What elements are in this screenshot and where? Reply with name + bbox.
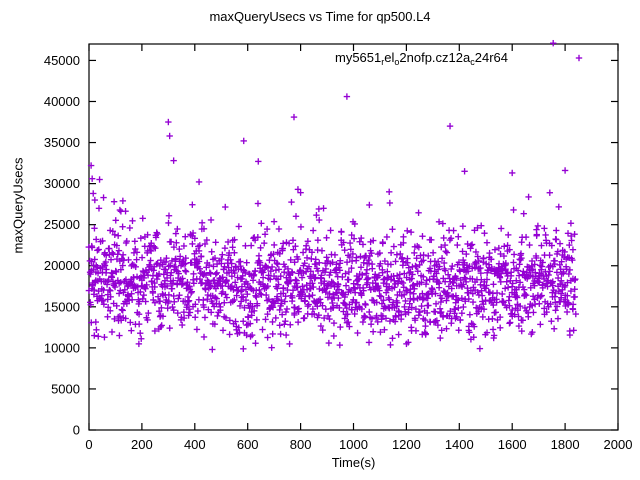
data-points <box>86 40 579 353</box>
svg-text:20000: 20000 <box>44 258 80 273</box>
svg-text:15000: 15000 <box>44 299 80 314</box>
svg-text:30000: 30000 <box>44 176 80 191</box>
svg-text:1600: 1600 <box>498 437 527 452</box>
chart-plot: maxQueryUsecs vs Time for qp500.L4 maxQu… <box>0 0 640 480</box>
svg-text:1800: 1800 <box>551 437 580 452</box>
svg-text:800: 800 <box>290 437 312 452</box>
svg-text:25000: 25000 <box>44 217 80 232</box>
svg-text:0: 0 <box>73 423 80 438</box>
x-axis-ticks: 0200400600800100012001400160018002000 <box>85 44 632 452</box>
plot-canvas: 0500010000150002000025000300003500040000… <box>0 0 640 480</box>
svg-text:40000: 40000 <box>44 94 80 109</box>
svg-text:400: 400 <box>184 437 206 452</box>
svg-text:0: 0 <box>85 437 92 452</box>
legend-entry-label: my5651relo2nofp.cz12ac24r64 <box>335 50 508 65</box>
svg-text:45000: 45000 <box>44 53 80 68</box>
svg-text:1000: 1000 <box>339 437 368 452</box>
svg-text:2000: 2000 <box>604 437 633 452</box>
svg-text:5000: 5000 <box>51 381 80 396</box>
svg-text:200: 200 <box>131 437 153 452</box>
svg-text:35000: 35000 <box>44 135 80 150</box>
svg-text:1200: 1200 <box>392 437 421 452</box>
svg-text:10000: 10000 <box>44 340 80 355</box>
legend-marker-plus-icon <box>570 49 588 67</box>
svg-text:600: 600 <box>237 437 259 452</box>
svg-text:1400: 1400 <box>445 437 474 452</box>
